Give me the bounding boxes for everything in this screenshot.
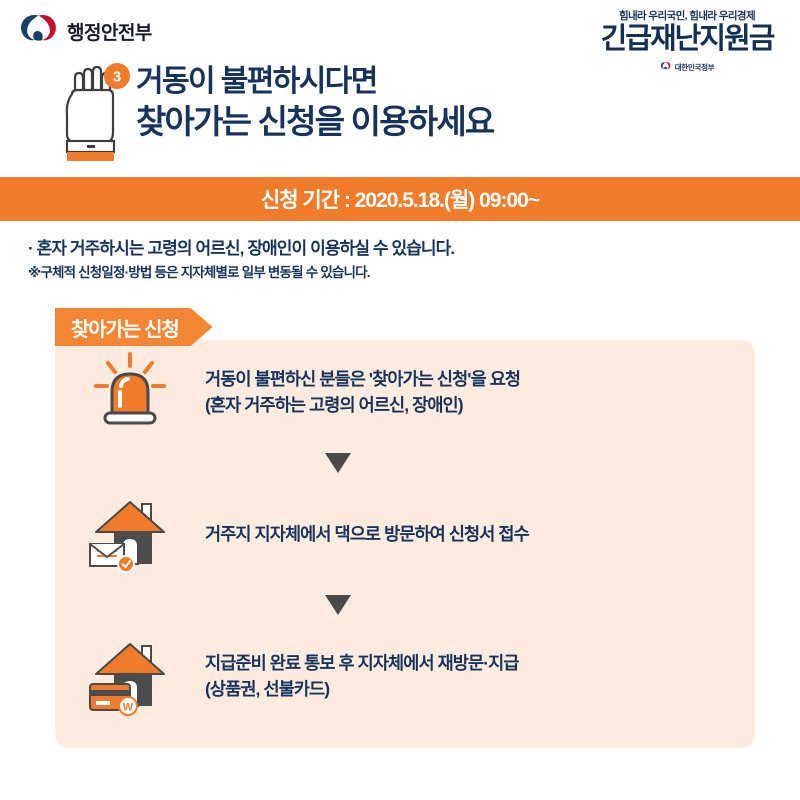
arrow-down-icon [325, 453, 351, 473]
process-step-line-2: (상품권, 선불카드) [205, 676, 519, 702]
application-period-banner: 신청 기간 : 2020.5.18.(월) 09:00~ [0, 177, 800, 221]
headline-text: 거동이 불편하시다면 찾아가는 신청을 이용하세요 [136, 64, 493, 142]
campaign-tagline: 힘내라 우리국민, 힘내라 우리경제 [592, 10, 782, 23]
process-step-line-2: (혼자 거주하는 고령의 어르신, 장애인) [205, 392, 520, 418]
ministry-branding: 행정안전부 [18, 12, 152, 51]
step-badge-number: 3 [113, 69, 121, 86]
headline-line-2: 찾아가는 신청을 이용하세요 [136, 102, 493, 142]
process-step-text: 지급준비 완료 통보 후 지자체에서 재방문·지급 (상품권, 선불카드) [205, 650, 519, 703]
hand-raised-icon: 3 [58, 62, 136, 162]
korea-taegeuk-logo-icon [18, 12, 58, 51]
note-main: · 혼자 거주하시는 고령의 어르신, 장애인이 이용하실 수 있습니다. [28, 238, 768, 261]
headline-block: 3 거동이 불편하시다면 찾아가는 신청을 이용하세요 [0, 60, 800, 172]
process-step: W 지급준비 완료 통보 후 지자체에서 재방문·지급 (상품권, 선불카드) [55, 624, 755, 728]
process-step-list: 거동이 불편하신 분들은 '찾아가는 신청'을 요청 (혼자 거주하는 고령의 … [55, 340, 755, 728]
process-step-line-1: 지급준비 완료 통보 후 지자체에서 재방문·지급 [205, 650, 519, 676]
arrow-down-icon [325, 595, 351, 615]
siren-alarm-icon [55, 350, 205, 434]
campaign-title: 긴급재난지원금 [592, 24, 782, 54]
process-step-line-1: 거주지 지자체에서 댁으로 방문하여 신청서 접수 [205, 521, 529, 547]
flow-arrow-row [55, 586, 755, 624]
process-step: 거동이 불편하신 분들은 '찾아가는 신청'을 요청 (혼자 거주하는 고령의 … [55, 340, 755, 444]
process-panel-area: 찾아가는 신청 [0, 308, 800, 753]
notes-block: · 혼자 거주하시는 고령의 어르신, 장애인이 이용하실 수 있습니다. ※구… [28, 238, 768, 283]
svg-text:W: W [123, 702, 134, 714]
note-sub: ※구체적 신청일정·방법 등은 지자체별로 일부 변동될 수 있습니다. [28, 264, 768, 283]
house-card-won-icon: W [55, 634, 205, 718]
flow-arrow-row [55, 444, 755, 482]
headline-line-1: 거동이 불편하시다면 [136, 64, 493, 100]
application-period-text: 신청 기간 : 2020.5.18.(월) 09:00~ [261, 184, 539, 214]
page-header: 행정안전부 힘내라 우리국민, 힘내라 우리경제 긴급재난지원금 대한민국정부 [0, 0, 800, 60]
process-step: 거주지 지자체에서 댁으로 방문하여 신청서 접수 [55, 482, 755, 586]
process-step-line-1: 거동이 불편하신 분들은 '찾아가는 신청'을 요청 [205, 366, 520, 392]
section-tag-label: 찾아가는 신청 [71, 313, 179, 342]
process-step-text: 거동이 불편하신 분들은 '찾아가는 신청'을 요청 (혼자 거주하는 고령의 … [205, 366, 520, 419]
ministry-name: 행정안전부 [67, 18, 152, 45]
process-step-text: 거주지 지자체에서 댁으로 방문하여 신청서 접수 [205, 521, 529, 547]
house-envelope-icon [55, 492, 205, 576]
